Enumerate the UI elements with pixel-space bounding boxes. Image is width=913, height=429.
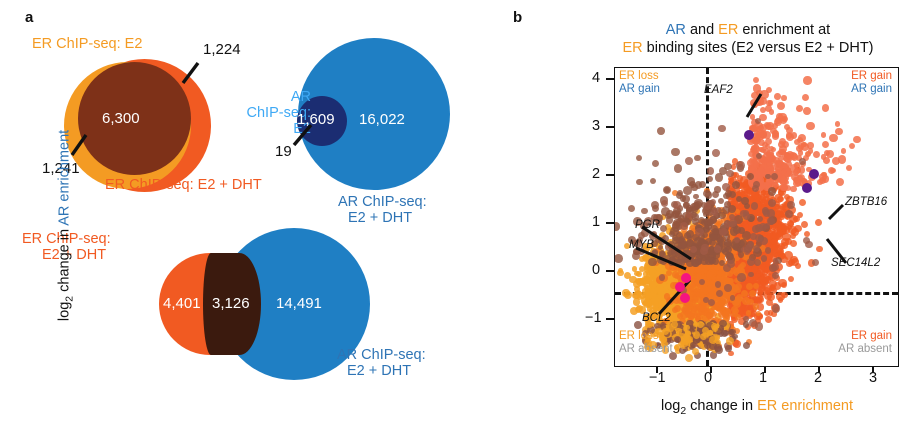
- scatter-title-line2: ER binding sites (E2 versus E2 + DHT): [598, 39, 898, 57]
- y-tick-4: 4: [592, 70, 600, 86]
- y-tickmark-2: [606, 174, 614, 176]
- y-tickmark-3: [606, 126, 614, 128]
- title-enrichment-token: enrichment at: [738, 22, 830, 38]
- x-axis-er-token: ER enrichment: [757, 398, 853, 414]
- y-tickmark-0: [606, 270, 614, 272]
- x-axis-change-token: change in: [686, 398, 757, 414]
- y-axis-ar-token: AR enrichment: [57, 130, 73, 226]
- y-tick-0: 0: [592, 262, 600, 278]
- scatter-title-line1: AR and ER enrichment at: [598, 21, 898, 39]
- y-axis-title: log2 change in AR enrichment: [57, 110, 76, 340]
- y-axis-log-token: log: [57, 302, 73, 321]
- title-ar-token: AR: [666, 22, 686, 38]
- y-tickmark-1: [606, 222, 614, 224]
- x-axis-log-token: log: [661, 398, 680, 414]
- venn3-value-overlap: 3,126: [212, 295, 250, 312]
- y-tickmark-4: [606, 78, 614, 80]
- venn3-label-ar-line1: AR ChIP-seq:: [337, 348, 426, 363]
- figure-root: a ER ChIP-seq: E2 ER ChIP-seq: E2 + DHT …: [0, 0, 913, 429]
- venn3-label-ar-line2: E2 + DHT: [347, 364, 411, 379]
- venn3-value-ar-only: 14,491: [276, 295, 322, 312]
- title2-er-token: ER: [622, 40, 642, 56]
- venn3-value-er-only: 4,401: [163, 295, 201, 312]
- y-tick-1: 1: [592, 214, 600, 230]
- y-axis-sub-token: 2: [64, 296, 75, 302]
- title2-rest-token: binding sites (E2 versus E2 + DHT): [643, 40, 874, 56]
- y-tick-3: 3: [592, 118, 600, 134]
- x-axis-title: log2 change in ER enrichment: [616, 398, 898, 417]
- y-tick-2: 2: [592, 166, 600, 182]
- y-tickmark-minus1: [606, 318, 614, 320]
- y-tick-minus1: −1: [585, 310, 602, 326]
- title-er-token: ER: [718, 22, 738, 38]
- title-and-token: and: [686, 22, 718, 38]
- y-axis-change-token: change in: [57, 226, 73, 296]
- panel-letter-b: b: [513, 9, 522, 26]
